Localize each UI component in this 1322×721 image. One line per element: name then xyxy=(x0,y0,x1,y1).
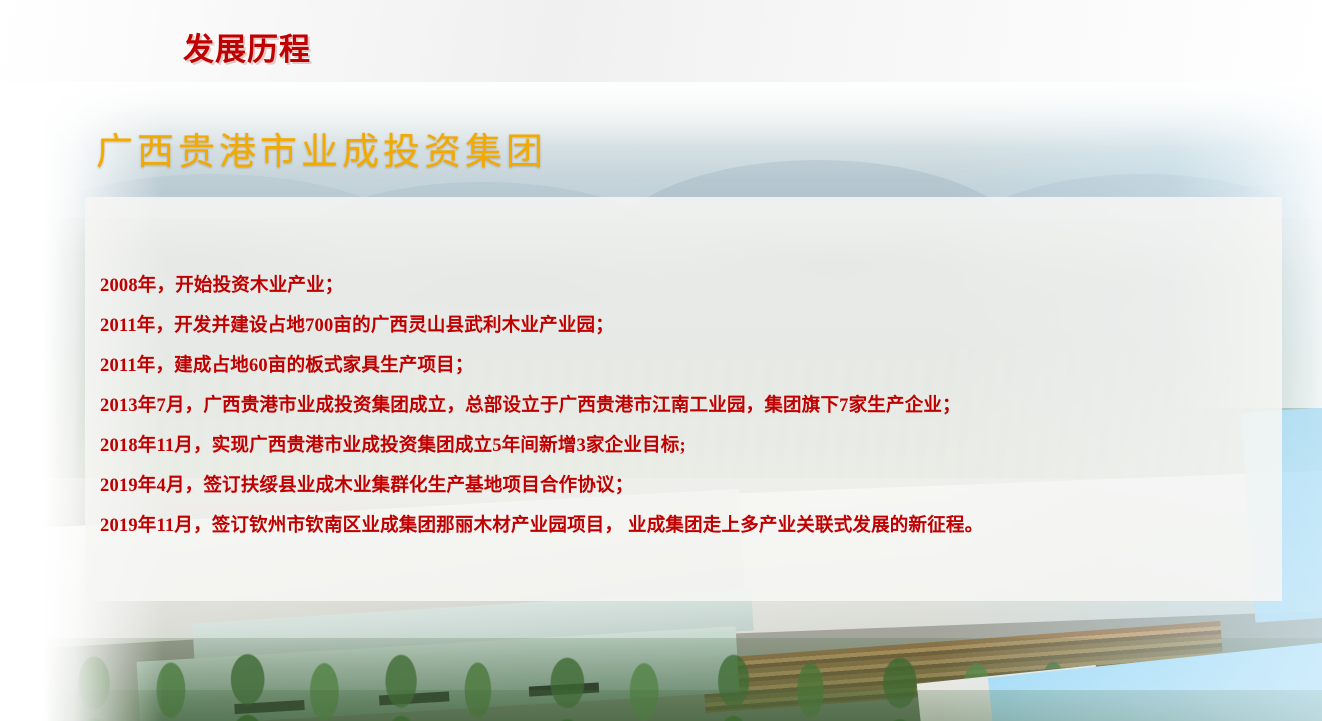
page-title: 发展历程 xyxy=(183,24,311,69)
timeline-item: 2013年7月，广西贵港市业成投资集团成立，总部设立于广西贵港市江南工业园，集团… xyxy=(100,386,1280,426)
timeline-item: 2019年4月，签订扶绥县业成木业集群化生产基地项目合作协议； xyxy=(100,466,1280,506)
timeline-item: 2019年11月，签订钦州市钦南区业成集团那丽木材产业园项目， 业成集团走上多产… xyxy=(100,506,1280,546)
timeline-item: 2018年11月，实现广西贵港市业成投资集团成立5年间新增3家企业目标; xyxy=(100,426,1280,466)
timeline-item: 2011年，建成占地60亩的板式家具生产项目； xyxy=(100,346,1280,386)
timeline-item: 2008年，开始投资木业产业； xyxy=(100,266,1280,306)
company-name: 广西贵港市业成投资集团 xyxy=(96,121,547,175)
slide-root: 广西贵港市业成投资集团 2008年，开始投资木业产业； 2011年，开发并建设占… xyxy=(0,0,1322,721)
timeline-list: 2008年，开始投资木业产业； 2011年，开发并建设占地700亩的广西灵山县武… xyxy=(100,266,1280,546)
timeline-item: 2011年，开发并建设占地700亩的广西灵山县武利木业产业园； xyxy=(100,306,1280,346)
